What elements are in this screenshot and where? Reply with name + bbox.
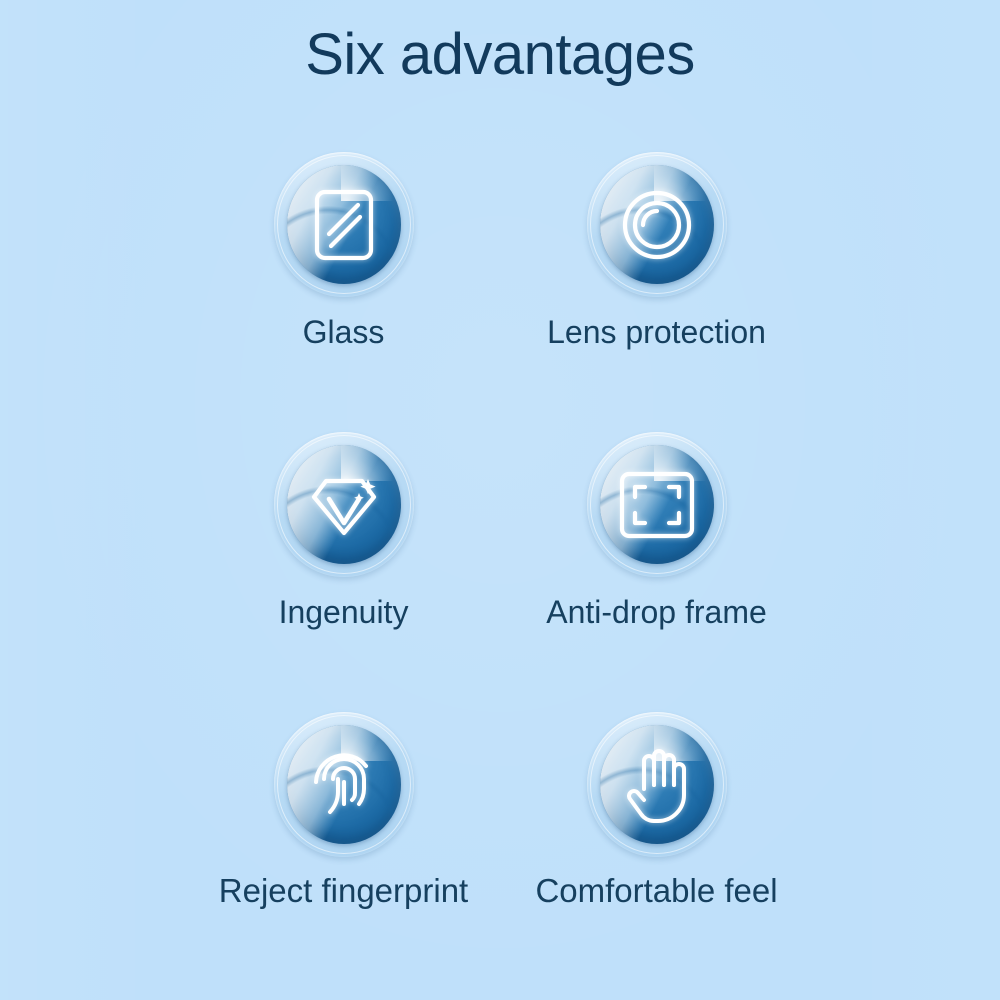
badge-disc — [287, 725, 401, 844]
fingerprint-icon — [287, 725, 401, 844]
advantage-label: Glass — [303, 315, 385, 350]
page-title: Six advantages — [0, 26, 1000, 84]
advantage-label: Ingenuity — [279, 595, 409, 630]
advantage-badge — [274, 152, 414, 297]
six-advantages-poster: Six advantages — [0, 0, 1000, 1000]
diamond-check-icon — [287, 445, 401, 564]
advantage-label: Reject fingerprint — [219, 873, 468, 909]
advantage-badge — [274, 712, 414, 857]
advantages-row: Reject fingerprint — [0, 712, 1000, 992]
advantages-grid: Glass — [0, 152, 1000, 992]
advantage-label: Lens protection — [547, 315, 766, 350]
advantage-badge — [587, 712, 727, 857]
advantage-item-lens-protection: Lens protection — [500, 152, 813, 350]
advantages-row: Ingenuity — [0, 432, 1000, 712]
badge-disc — [287, 445, 401, 564]
advantage-badge — [587, 152, 727, 297]
advantages-row: Glass — [0, 152, 1000, 432]
hand-palm-icon — [600, 725, 714, 844]
badge-disc — [600, 165, 714, 284]
corner-frame-icon — [600, 445, 714, 564]
camera-lens-icon — [600, 165, 714, 284]
badge-disc — [600, 725, 714, 844]
advantage-item-anti-drop-frame: Anti-drop frame — [500, 432, 813, 630]
advantage-label: Comfortable feel — [535, 873, 777, 909]
badge-disc — [600, 445, 714, 564]
advantage-item-reject-fingerprint: Reject fingerprint — [187, 712, 500, 909]
advantage-item-comfortable-feel: Comfortable feel — [500, 712, 813, 909]
badge-disc — [287, 165, 401, 284]
advantage-item-glass: Glass — [187, 152, 500, 350]
glass-screen-protector-icon — [287, 165, 401, 284]
advantage-badge — [587, 432, 727, 577]
advantage-badge — [274, 432, 414, 577]
advantage-item-ingenuity: Ingenuity — [187, 432, 500, 630]
advantage-label: Anti-drop frame — [546, 595, 767, 630]
